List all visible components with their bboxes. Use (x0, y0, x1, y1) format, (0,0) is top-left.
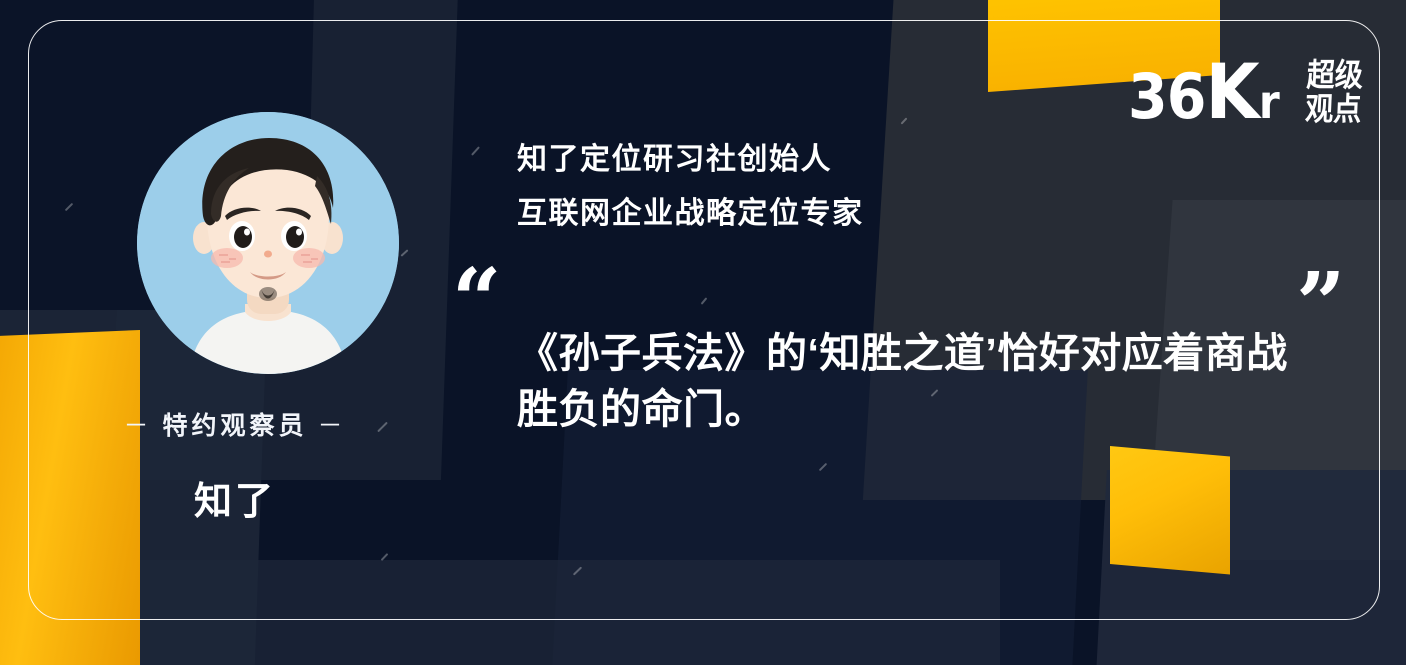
quote-card: －特约观察员－ 知了 知了定位研习社创始人 互联网企业战略定位专家 “ ” 《孙… (0, 0, 1406, 665)
quote-text: 《孙子兵法》的‘知胜之道’恰好对应着商战胜负的命门。 (517, 325, 1307, 437)
role-label-row: －特约观察员－ (0, 406, 470, 442)
speaker-title-line-2: 互联网企业战略定位专家 (517, 187, 864, 241)
speaker-column: －特约观察员－ 知了 (0, 0, 470, 665)
role-dash-left: － (113, 406, 162, 442)
brand-36kr-wordmark: 36Kr (1128, 56, 1279, 128)
avatar-illustration (137, 112, 399, 374)
brand-36kr-num: 36 (1128, 60, 1206, 133)
brand-logo: 36Kr 超级 观点 (1128, 56, 1370, 128)
speaker-titles: 知了定位研习社创始人 互联网企业战略定位专家 (517, 133, 864, 241)
brand-chinese-wordmark: 超级 观点 (1304, 58, 1363, 126)
role-label: 特约观察员 (162, 412, 307, 440)
brand-chinese-line-1: 超级 (1306, 58, 1364, 92)
brand-chinese-line-2: 观点 (1304, 92, 1362, 126)
brand-36kr-r: r (1259, 75, 1279, 129)
brand-36kr-k: K (1206, 47, 1259, 136)
speaker-name: 知了 (0, 470, 470, 525)
role-dash-right: － (308, 406, 357, 442)
speaker-title-line-1: 知了定位研习社创始人 (517, 133, 864, 187)
avatar (137, 112, 399, 374)
quote-open-mark: “ (452, 258, 501, 344)
yellow-accent-bottom-right (1110, 446, 1230, 574)
